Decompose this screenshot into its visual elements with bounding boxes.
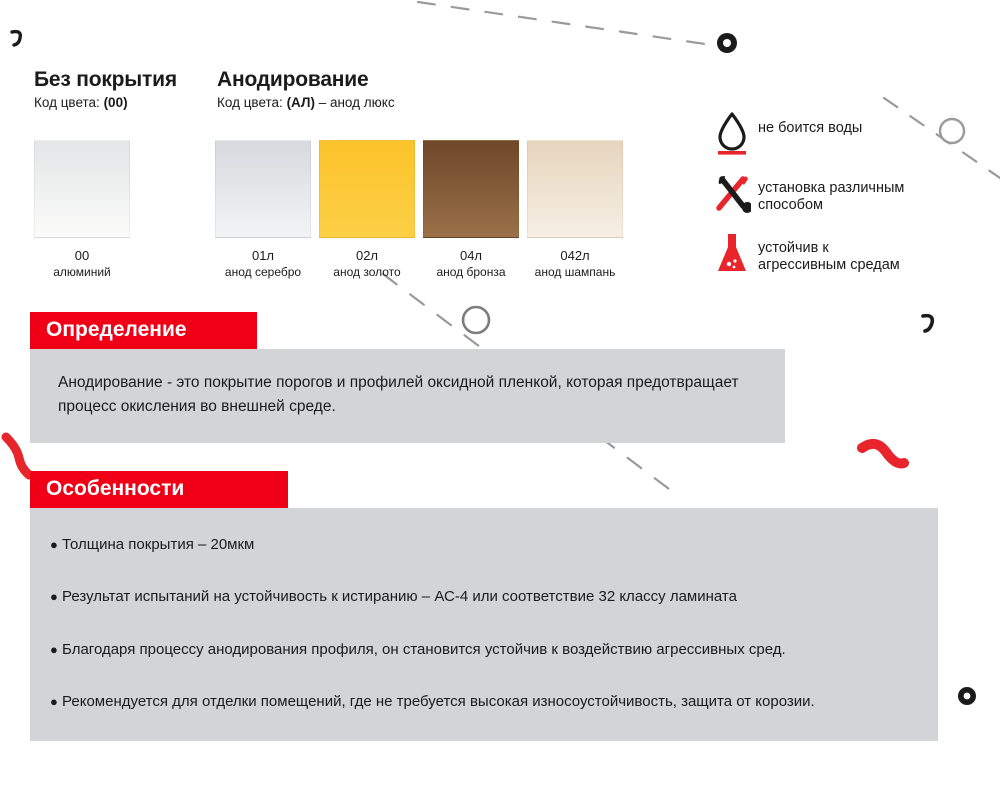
swatch-042l-name: анод шампань — [535, 266, 616, 280]
swatch-00-name: алюминий — [53, 266, 111, 280]
group-anodizing: Анодирование Код цвета: (АЛ) – анод люкс — [217, 68, 395, 110]
swatch-01l[interactable]: 01л анод серебро — [215, 140, 311, 280]
definition-section: Определение Анодирование - это покрытие … — [30, 312, 785, 443]
group-uncoated: Без покрытия Код цвета: (00) — [34, 68, 177, 110]
specifics-bullet-4: ● Рекомендуется для отделки помещений, г… — [50, 689, 914, 715]
group-uncoated-code-prefix: Код цвета: — [34, 95, 104, 110]
swatch-04l-name: анод бронза — [436, 266, 505, 280]
finish-anod-champagne-swatch[interactable] — [527, 140, 623, 238]
feature-install-methods: установка различным способом — [712, 170, 992, 216]
tools-wrench-screwdriver-icon — [712, 170, 752, 216]
swatch-02l-code: 02л — [356, 249, 378, 264]
feature-install-methods-label: установка различным способом — [758, 170, 904, 214]
swatch-row-uncoated: 00 алюминий — [34, 140, 130, 280]
definition-tab-label: Определение — [30, 312, 257, 349]
specifics-section: Особенности ● Толщина покрытия – 20мкм ●… — [30, 471, 938, 741]
specifics-body: ● Толщина покрытия – 20мкм ● Результат и… — [30, 508, 938, 741]
swatch-042l[interactable]: 042л анод шампань — [527, 140, 623, 280]
swatch-02l-name: анод золото — [333, 266, 400, 280]
finish-options-infographic: Без покрытия Код цвета: (00) 00 алюминий… — [0, 0, 1000, 800]
feature-chemical-resistant: устойчив к агрессивным средам — [712, 230, 992, 276]
swatch-04l-code: 04л — [460, 249, 482, 264]
swatch-00[interactable]: 00 алюминий — [34, 140, 130, 280]
specifics-bullet-3-text: Благодаря процессу анодирования профиля,… — [62, 641, 786, 658]
squiggle-top-left — [12, 32, 20, 45]
bullet-glyph: ● — [50, 642, 58, 657]
squiggle-red-left — [6, 437, 29, 475]
feature-water-resistant-label: не боится воды — [758, 110, 862, 137]
finish-anod-bronze-swatch[interactable] — [423, 140, 519, 238]
feature-water-resistant: не боится воды — [712, 110, 992, 156]
squiggle-red-right — [862, 444, 904, 464]
feature-chemical-resistant-label: устойчив к агрессивным средам — [758, 230, 900, 274]
finish-anod-gold-swatch[interactable] — [319, 140, 415, 238]
swatch-01l-name: анод серебро — [225, 266, 301, 280]
bullet-glyph: ● — [50, 537, 58, 552]
group-uncoated-code: Код цвета: (00) — [34, 95, 177, 110]
specifics-bullet-1: ● Толщина покрытия – 20мкм — [50, 532, 914, 558]
group-anodizing-code-suffix: – анод люкс — [315, 95, 395, 110]
finish-anod-silver-swatch[interactable] — [215, 140, 311, 238]
ring-top-right — [717, 33, 737, 53]
specifics-bullet-3: ● Благодаря процессу анодирования профил… — [50, 637, 914, 663]
specifics-bullet-2: ● Результат испытаний на устойчивость к … — [50, 584, 914, 610]
specifics-bullet-4-text: Рекомендуется для отделки помещений, где… — [62, 693, 815, 710]
specifics-bullet-1-text: Толщина покрытия – 20мкм — [62, 536, 254, 553]
swatch-042l-code: 042л — [560, 249, 589, 264]
group-anodizing-code: Код цвета: (АЛ) – анод люкс — [217, 95, 395, 110]
specifics-tab-label: Особенности — [30, 471, 288, 508]
swatch-00-code: 00 — [75, 249, 89, 264]
ring-bottom-right — [958, 687, 976, 705]
swatch-row-anodizing: 01л анод серебро 02л анод золото 04л ано… — [215, 140, 623, 280]
finish-aluminium-swatch[interactable] — [34, 140, 130, 238]
definition-body: Анодирование - это покрытие порогов и пр… — [30, 349, 785, 443]
group-anodizing-code-prefix: Код цвета: — [217, 95, 287, 110]
bullet-glyph: ● — [50, 694, 58, 709]
feature-list: не боится воды установка различным спосо… — [712, 110, 992, 290]
group-uncoated-code-value: (00) — [104, 95, 128, 110]
group-anodizing-title: Анодирование — [217, 68, 395, 92]
squiggle-right-middle — [923, 316, 932, 331]
group-uncoated-title: Без покрытия — [34, 68, 177, 92]
swatch-02l[interactable]: 02л анод золото — [319, 140, 415, 280]
group-anodizing-code-value: (АЛ) — [287, 95, 315, 110]
bullet-glyph: ● — [50, 589, 58, 604]
swatch-01l-code: 01л — [252, 249, 274, 264]
specifics-bullet-2-text: Результат испытаний на устойчивость к ис… — [62, 588, 737, 605]
swatch-04l[interactable]: 04л анод бронза — [423, 140, 519, 280]
dashed-line-top — [418, 2, 712, 45]
water-drop-icon — [712, 110, 752, 156]
flask-chemical-icon — [712, 230, 752, 276]
